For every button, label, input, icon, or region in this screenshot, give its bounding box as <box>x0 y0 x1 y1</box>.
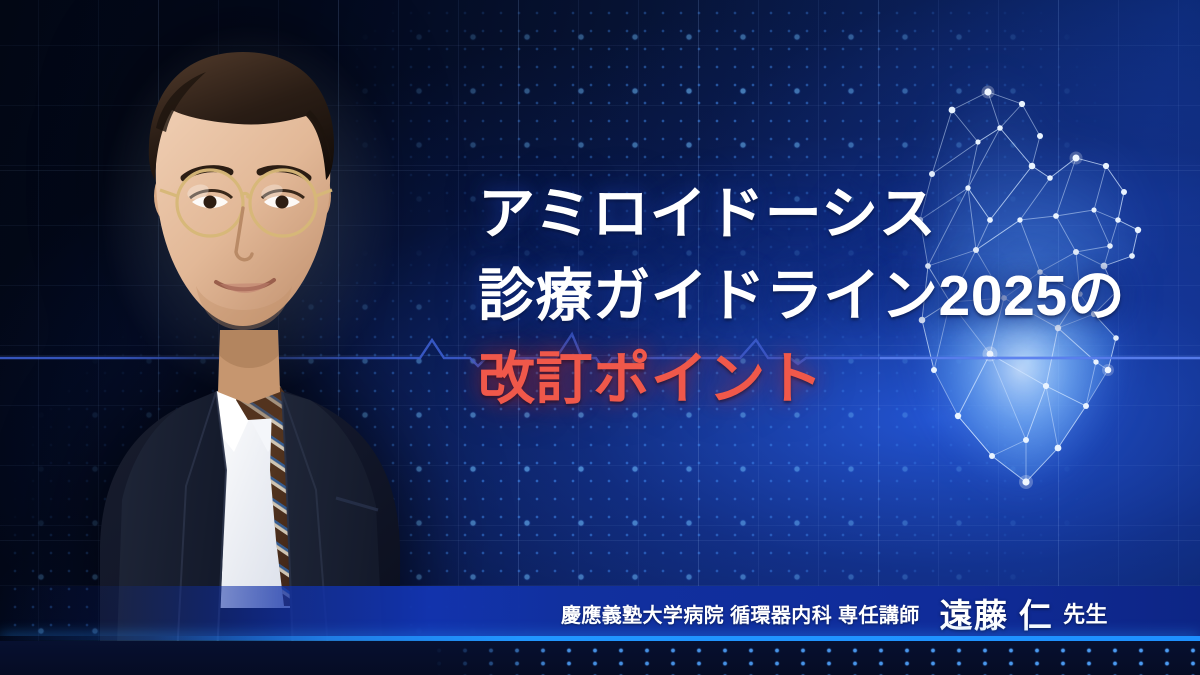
title-line-3-highlight: 改訂ポイント <box>478 351 1178 408</box>
speaker-name: 遠藤 仁 <box>940 589 1053 637</box>
title-line-1: アミロイドーシス <box>478 186 1178 243</box>
footer-strip <box>0 641 1200 675</box>
presenter-portrait-icon <box>0 0 500 675</box>
title-card-slide: アミロイドーシス 診療ガイドライン2025の 改訂ポイント 慶應義塾大学病院 循… <box>0 0 1200 675</box>
title-line-2: 診療ガイドライン2025の <box>478 268 1178 325</box>
speaker-info: 慶應義塾大学病院 循環器内科 専任講師 遠藤 仁 先生 <box>561 586 1108 640</box>
title-block: アミロイドーシス 診療ガイドライン2025の 改訂ポイント <box>478 186 1178 408</box>
footer-dot-matrix-icon <box>0 641 1200 675</box>
speaker-affiliation: 慶應義塾大学病院 循環器内科 専任講師 <box>561 599 920 628</box>
speaker-name-bar: 慶應義塾大学病院 循環器内科 専任講師 遠藤 仁 先生 <box>0 586 1200 640</box>
speaker-honorific: 先生 <box>1063 597 1108 629</box>
